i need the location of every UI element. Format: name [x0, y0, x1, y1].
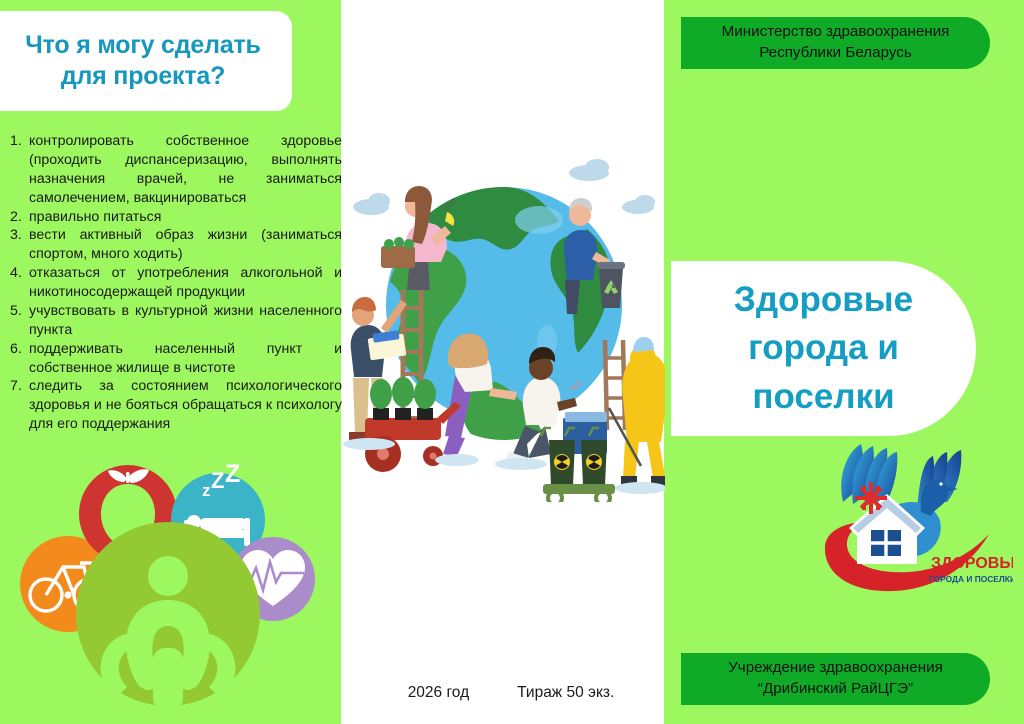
publication-year: 2026 год [408, 684, 469, 702]
strong-person-icon [76, 522, 260, 710]
list-item-number: 6. [10, 340, 29, 359]
ministry-banner: Министерство здравоохранения Республики … [681, 17, 990, 69]
list-item-text: контролировать собственное здоровье (про… [29, 132, 342, 208]
list-item-text: учувствовать в культурной жизни населенн… [29, 302, 342, 340]
page-title: Что я могу сделать для проекта? [0, 30, 292, 93]
list-item-number: 3. [10, 226, 29, 245]
title-line-3: поселки [752, 374, 894, 420]
institution-line-2: “Дрибинский РайЦГЭ” [758, 679, 913, 700]
list-item-number: 7. [10, 377, 29, 396]
toxic-waste-barrels [541, 422, 615, 502]
institution-line-1: Учреждение здравоохранения [728, 658, 943, 679]
healthy-lifestyle-icons-graphic: z Z Z [8, 452, 340, 720]
logo-title: ЗДОРОВЫЕ [931, 555, 1013, 572]
list-item-text: отказаться от употребления алкогольной и… [29, 264, 342, 302]
list-item-text: следить за состоянием психологического з… [29, 377, 342, 434]
svg-text:Z: Z [211, 468, 224, 493]
list-item-text: вести активный образ жизни (заниматься с… [29, 226, 342, 264]
sign-board [368, 330, 407, 360]
list-item-text: поддерживать населенный пункт и собствен… [29, 340, 342, 378]
list-item: 5. учувствовать в культурной жизни насел… [10, 302, 342, 340]
svg-text:Z: Z [225, 460, 240, 488]
ministry-line-2: Республики Беларусь [759, 43, 912, 64]
list-item-number: 4. [10, 264, 29, 283]
list-item-number: 2. [10, 208, 29, 227]
list-item: 4. отказаться от употребления алкогольно… [10, 264, 342, 302]
task-list: 1. контролировать собственное здоровье (… [10, 132, 342, 434]
list-item: 3. вести активный образ жизни (заниматьс… [10, 226, 342, 264]
list-item: 1. контролировать собственное здоровье (… [10, 132, 342, 208]
title-line-1: Здоровые [734, 277, 913, 323]
print-run: Тираж 50 экз. [517, 684, 614, 702]
svg-text:z: z [202, 481, 211, 500]
list-item: 2. правильно питаться [10, 208, 342, 227]
question-heading-card: Что я могу сделать для проекта? [0, 11, 292, 111]
title-line-2: города и [748, 325, 899, 371]
brochure-page: Что я могу сделать для проекта? 1. контр… [0, 0, 1024, 724]
healthy-cities-stork-house-logo: ЗДОРОВЫЕ ГОРОДА И ПОСЕЛКИ [813, 442, 1013, 602]
middle-footer: 2026 год Тираж 50 экз. [341, 684, 681, 702]
earth-eco-people-illustration [341, 150, 665, 502]
brochure-title-pill: Здоровые города и поселки [671, 261, 976, 436]
institution-banner: Учреждение здравоохранения “Дрибинский Р… [681, 653, 990, 705]
logo-subtitle: ГОРОДА И ПОСЕЛКИ [929, 574, 1013, 584]
ministry-line-1: Министерство здравоохранения [722, 22, 950, 43]
list-item: 7. следить за состоянием психологическог… [10, 377, 342, 434]
list-item-number: 5. [10, 302, 29, 321]
list-item-text: правильно питаться [29, 208, 342, 227]
list-item-number: 1. [10, 132, 29, 151]
list-item: 6. поддерживать населенный пункт и собст… [10, 340, 342, 378]
